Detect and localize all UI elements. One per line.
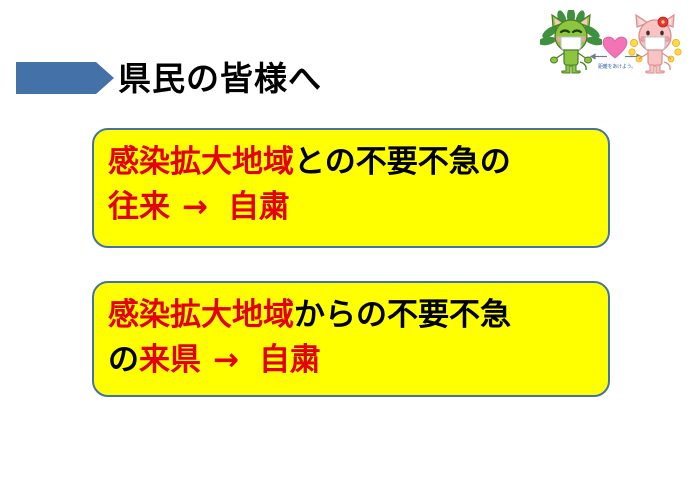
- msg2-l1-body: からの不要不急: [294, 297, 511, 333]
- page-title: 県民の皆様へ: [118, 55, 322, 103]
- right-arrow-icon: →: [182, 189, 208, 225]
- heading-row: 県民の皆様へ: [0, 55, 700, 103]
- msg1-l2-subject: 往来: [108, 189, 170, 225]
- msg2-l2-subject: 来県: [139, 342, 201, 378]
- message-box-2-line-1: 感染拡大地域からの不要不急: [108, 293, 596, 338]
- msg2-l2-action: 自粛: [259, 342, 321, 378]
- msg2-l1-highlight: 感染拡大地域: [108, 297, 294, 333]
- msg1-l1-highlight: 感染拡大地域: [108, 144, 294, 180]
- message-box-2: 感染拡大地域からの不要不急 の来県→自粛: [92, 281, 610, 397]
- message-box-1-line-1: 感染拡大地域との不要不急の: [108, 140, 596, 185]
- msg2-l2-particle: の: [108, 342, 139, 378]
- slide-canvas: 距離をあけよう。: [0, 0, 700, 495]
- right-arrow-icon: →: [213, 342, 239, 378]
- right-arrow-banner-icon: [16, 62, 114, 94]
- msg1-l2-action: 自粛: [228, 189, 290, 225]
- message-box-2-line-2: の来県→自粛: [108, 338, 596, 383]
- message-box-1-line-2: 往来→自粛: [108, 185, 596, 230]
- message-box-1: 感染拡大地域との不要不急の 往来→自粛: [92, 128, 610, 248]
- msg1-l1-body: との不要不急の: [294, 144, 511, 180]
